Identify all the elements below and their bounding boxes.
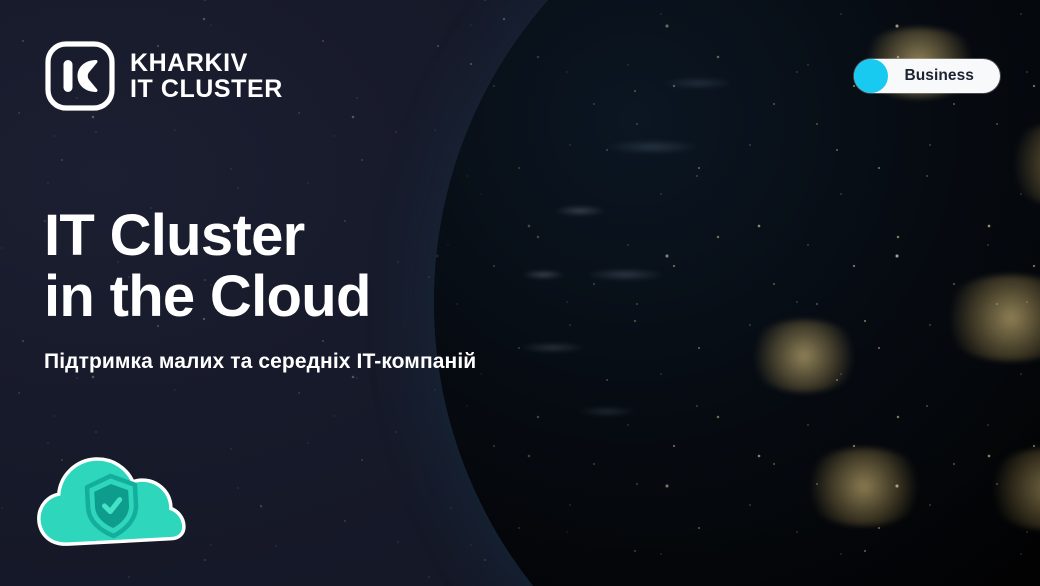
business-badge[interactable]: Business xyxy=(854,59,1000,93)
hero-copy: IT Cluster in the Cloud Підтримка малих … xyxy=(44,205,564,374)
cloud-shield-check-icon xyxy=(28,446,196,558)
page-title: IT Cluster in the Cloud xyxy=(44,205,564,328)
kharkiv-it-cluster-logo-icon xyxy=(44,40,116,112)
brand-logo[interactable]: KHARKIV IT CLUSTER xyxy=(44,40,283,112)
brand-name-line-2: IT CLUSTER xyxy=(130,76,283,103)
brand-name-line-1: KHARKIV xyxy=(130,50,283,77)
brand-wordmark: KHARKIV IT CLUSTER xyxy=(130,50,283,103)
hero-subtitle: Підтримка малих та середніх IT-компаній xyxy=(44,350,564,374)
hero-title-line-1: IT Cluster xyxy=(44,205,564,266)
cyan-dot-icon xyxy=(854,59,888,93)
hero-banner: KHARKIV IT CLUSTER Business IT Cluster i… xyxy=(0,0,1040,586)
hero-title-line-2: in the Cloud xyxy=(44,266,564,327)
business-badge-label: Business xyxy=(886,67,996,85)
